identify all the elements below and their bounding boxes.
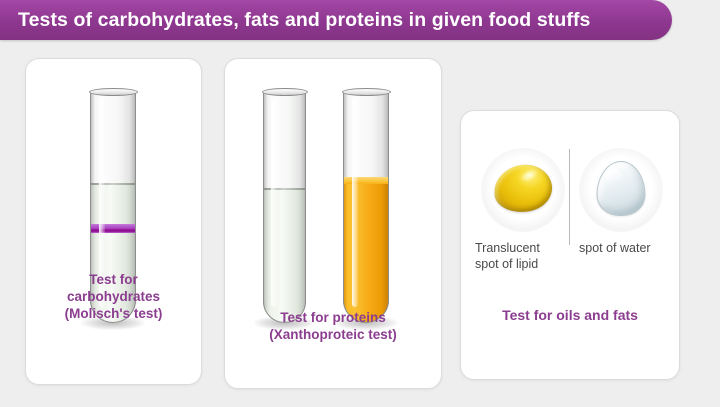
label-line: spot of lipid (475, 257, 570, 273)
caption-line: (Xanthoproteic test) (225, 326, 441, 343)
tube-rim (342, 88, 391, 96)
caption-oils-and-fats: Test for oils and fats (461, 307, 679, 324)
page-title: Tests of carbohydrates, fats and protein… (0, 9, 591, 32)
tube-liquid-orange (343, 177, 389, 323)
tube-liquid-clear (263, 188, 306, 323)
caption-proteins: Test for proteins (Xanthoproteic test) (225, 309, 441, 343)
water-spot-graphic (573, 143, 669, 243)
tube-glass-body (263, 91, 306, 323)
card-oils-and-fats-test: Translucent spot of lipid spot of water … (460, 110, 680, 380)
card-proteins-test: Test for proteins (Xanthoproteic test) (224, 58, 442, 389)
water-highlight (604, 167, 624, 190)
caption-line: (Molisch's test) (26, 305, 201, 322)
label-lipid-spot: Translucent spot of lipid (475, 241, 570, 272)
caption-carbohydrates: Test for carbohydrates (Molisch's test) (26, 271, 201, 322)
tube-rim (262, 88, 308, 96)
lipid-spot-graphic (475, 143, 571, 243)
label-line: Translucent (475, 241, 570, 257)
lipid-highlight (518, 166, 541, 185)
caption-line: Test for (26, 271, 201, 288)
caption-line: Test for oils and fats (461, 307, 679, 324)
caption-line: carbohydrates (26, 288, 201, 305)
label-line: spot of water (579, 241, 675, 257)
tube-glass-body (343, 91, 389, 323)
xanthoproteic-control-tube (263, 91, 306, 323)
label-water-spot: spot of water (579, 241, 675, 257)
tube-rim (89, 88, 138, 96)
liquid-meniscus (263, 188, 306, 190)
caption-line: Test for proteins (225, 309, 441, 326)
xanthoproteic-positive-tube (343, 91, 389, 323)
card-carbohydrates-test: Test for carbohydrates (Molisch's test) (25, 58, 202, 385)
liquid-meniscus (90, 183, 136, 185)
spot-divider (569, 149, 570, 245)
page-title-banner: Tests of carbohydrates, fats and protein… (0, 0, 672, 40)
violet-ring-core (90, 229, 136, 233)
liquid-meniscus (343, 177, 389, 184)
